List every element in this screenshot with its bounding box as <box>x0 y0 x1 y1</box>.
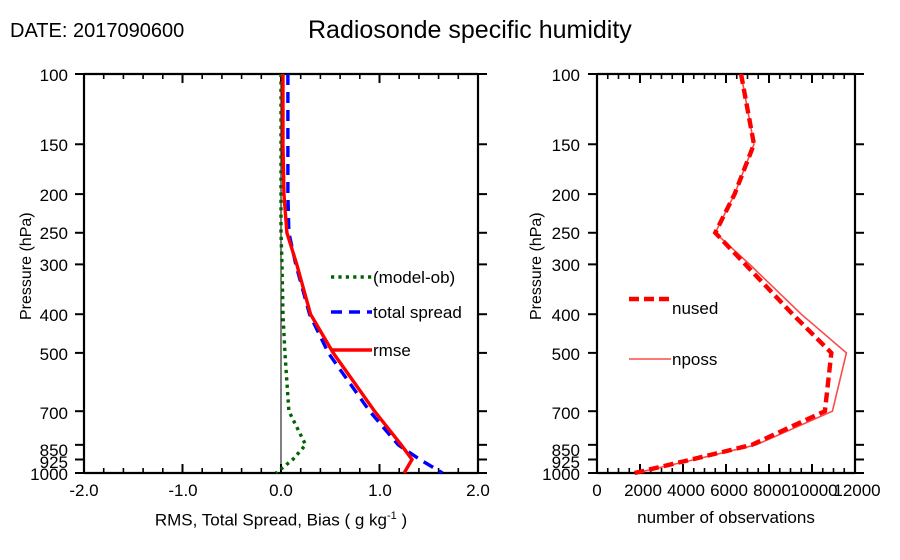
plot-vector-layer <box>0 0 900 560</box>
figure-canvas: DATE: 2017090600 Radiosonde specific hum… <box>0 0 900 560</box>
left-panel-curves <box>276 74 442 473</box>
right-panel-curves <box>635 74 847 473</box>
series-nused <box>635 74 832 473</box>
series-total-spread <box>288 74 443 473</box>
legend-sample-lines <box>331 277 671 359</box>
series-nposs <box>636 74 847 473</box>
series-rmse <box>283 74 412 473</box>
